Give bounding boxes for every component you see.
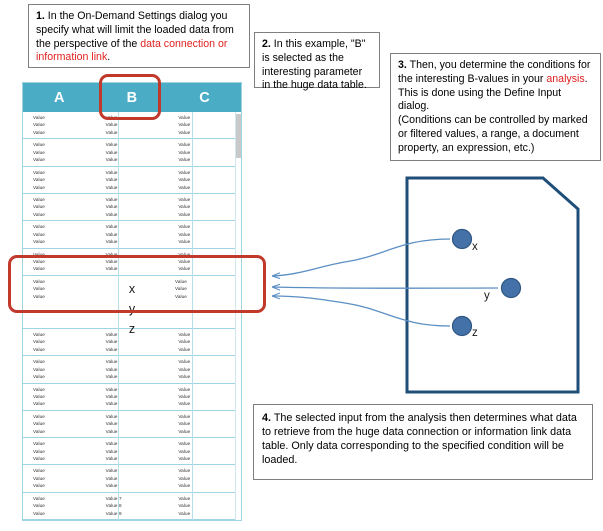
table-row[interactable]: ValueValueValueValueValueValueValueValue… [23,384,241,411]
table-cell-value: Value [178,510,241,517]
table-row[interactable]: ValueValueValueValueValueValueValueValue… [23,221,241,248]
table-cell-value: Value [178,475,241,482]
table-cell-value: Value [33,386,96,393]
table-cell-value: Value [33,358,96,365]
table-cell-value: Value [33,184,96,191]
table-cell-value: Value [33,231,96,238]
table-cell-value: Value [33,420,96,427]
table-cell-b: ValueValueValue [96,386,169,408]
table-cell-b: ValueValueValue [96,467,169,489]
analysis-point-y-dot[interactable] [502,279,521,298]
table-cell-value: Value [178,121,241,128]
callout-step-1-part-b: . [107,51,110,63]
table-cell-value: Value [106,475,169,482]
table-cell-value: Value [33,238,96,245]
table-cell-value: Value [33,223,96,230]
table-cell-b: ValueValueValue [96,196,169,218]
column-header-a[interactable]: A [23,90,96,106]
table-cell-c: ValueValueValue [168,169,241,191]
table-cell-value: Value [178,231,241,238]
table-cell-value: Value [106,428,169,435]
table-cell-value: Value [178,400,241,407]
table-row[interactable]: ValueValueValueValueValueValueValueValue… [23,438,241,465]
table-cell-value: Value [106,176,169,183]
table-cell-value: Value 8 [106,502,169,509]
table-cell-value: Value [178,467,241,474]
table-cell-value: Value [106,203,169,210]
table-cell-value: Value [33,149,96,156]
callout-step-4-text: 4. The selected input from the analysis … [262,411,584,467]
table-cell-a: ValueValueValue [23,196,96,218]
callout-step-1: 1. In the On-Demand Settings dialog you … [28,4,250,68]
callout-step-3-number: 3. [398,59,407,71]
table-cell-a: ValueValueValue [23,141,96,163]
callout-step-2: 2. In this example, "B" is selected as t… [254,32,380,88]
table-cell-value: Value [33,393,96,400]
table-cell-value: Value [106,393,169,400]
table-cell-value: Value [106,156,169,163]
callout-step-1-text: 1. In the On-Demand Settings dialog you … [36,10,242,65]
table-cell-value: Value [178,482,241,489]
table-cell-value: Value [178,502,241,509]
table-cell-value: Value [178,420,241,427]
table-cell-c: ValueValueValue [168,196,241,218]
table-cell-value: Value [106,482,169,489]
callout-step-2-body: In this example, "B" is selected as the … [262,38,368,91]
table-cell-value: Value [178,203,241,210]
table-cell-value: Value 7 [106,495,169,502]
table-cell-value: Value [178,196,241,203]
diagram-canvas: 1. In the On-Demand Settings dialog you … [0,0,603,531]
table-cell-value: Value [178,366,241,373]
callout-step-4-number: 4. [262,412,271,424]
table-cell-c: ValueValueValue [168,141,241,163]
table-cell-value: Value [33,114,96,121]
table-cell-value: Value [178,129,241,136]
annotation-highlight-row-xyz [8,255,266,313]
table-cell-value: Value [106,121,169,128]
table-cell-value: Value [106,386,169,393]
analysis-point-x-dot[interactable] [453,230,472,249]
table-cell-value: Value [178,149,241,156]
table-cell-value: Value [178,156,241,163]
annotation-highlight-column-b [99,74,161,120]
table-cell-c: ValueValueValue [168,413,241,435]
table-cell-value: Value [33,448,96,455]
table-cell-value: Value [106,196,169,203]
table-cell-value: Value [106,238,169,245]
table-cell-value: Value [178,238,241,245]
table-cell-value: Value [33,502,96,509]
table-scrollbar[interactable] [235,112,241,520]
table-cell-value: Value [178,386,241,393]
analysis-point-z-label: z [472,327,478,339]
analysis-document-shape [405,176,580,394]
table-cell-b: ValueValueValue [96,223,169,245]
table-cell-value: Value [106,440,169,447]
table-row[interactable]: ValueValueValueValueValueValueValueValue… [23,356,241,383]
analysis-point-z-dot[interactable] [453,317,472,336]
table-cell-value: Value [33,156,96,163]
table-row[interactable]: ValueValueValueValueValueValueValueValue… [23,329,241,356]
table-cell-value: Value [106,149,169,156]
table-cell-value: Value [33,495,96,502]
table-cell-b: ValueValueValue [96,331,169,353]
table-cell-value: Value [33,196,96,203]
callout-step-3-text: 3. Then, you determine the conditions fo… [398,59,593,155]
table-cell-b: ValueValueValue [96,141,169,163]
table-cell-value: Value [33,475,96,482]
table-cell-value: Value [106,211,169,218]
table-cell-value: Value [33,338,96,345]
table-row[interactable]: ValueValueValueValueValueValueValueValue… [23,139,241,166]
table-cell-value: Value [106,455,169,462]
table-body: ValueValueValueValueValueValueValueValue… [23,112,241,520]
table-cell-b: ValueValueValue [96,169,169,191]
table-cell-b: Value 7Value 8Value 9 [96,495,169,517]
callout-step-1-number: 1. [36,10,45,22]
table-cell-value: Value [106,338,169,345]
table-cell-value: Value [178,169,241,176]
table-cell-value: Value [178,338,241,345]
table-cell-value: Value [178,393,241,400]
table-cell-value: Value [33,176,96,183]
table-cell-value: Value [106,448,169,455]
table-cell-value: Value [106,467,169,474]
table-cell-a: ValueValueValue [23,386,96,408]
table-cell-value: Value [106,331,169,338]
table-cell-value: Value [106,420,169,427]
table-cell-value: Value [106,231,169,238]
table-cell-c: ValueValueValue [168,114,241,136]
table-cell-value: Value [178,346,241,353]
table-cell-value: Value [33,373,96,380]
table-cell-c: ValueValueValue [168,223,241,245]
table-cell-b: ValueValueValue [96,358,169,380]
table-cell-value: Value [178,428,241,435]
column-divider-bc [192,112,193,520]
table-cell-value: Value [178,455,241,462]
table-cell-value: Value [106,184,169,191]
table-cell-value: Value [106,358,169,365]
table-cell-value: Value [178,176,241,183]
column-divider-ab [118,112,119,520]
table-cell-value: Value [178,141,241,148]
table-cell-value: Value [178,211,241,218]
table-cell-a: ValueValueValue [23,440,96,462]
table-cell-a: ValueValueValue [23,114,96,136]
callout-step-4: 4. The selected input from the analysis … [253,404,593,480]
table-cell-value: Value [106,169,169,176]
table-cell-c: ValueValueValue [168,467,241,489]
table-cell-value: Value [33,141,96,148]
table-cell-value: Value [106,141,169,148]
table-cell-value: Value 9 [106,510,169,517]
table-cell-value: Value [33,121,96,128]
table-cell-value: Value [33,510,96,517]
table-scrollbar-thumb[interactable] [236,114,241,158]
table-cell-value: Value [178,223,241,230]
analysis-point-x-label: x [472,241,478,253]
table-cell-value: Value [106,223,169,230]
table-cell-value: Value [33,169,96,176]
table-cell-value: Value [106,400,169,407]
table-cell-value: Value [178,184,241,191]
table-cell-value: Value [106,373,169,380]
table-cell-value: Value [178,413,241,420]
table-cell-value: Value [33,413,96,420]
table-cell-value: Value [178,448,241,455]
callout-step-2-number: 2. [262,38,271,50]
table-row[interactable]: ValueValueValueValueValueValueValueValue… [23,465,241,492]
table-cell-a: ValueValueValue [23,169,96,191]
table-cell-c: ValueValueValue [168,358,241,380]
table-row[interactable]: ValueValueValueValueValueValueValueValue… [23,411,241,438]
table-cell-value: Value [33,129,96,136]
table-cell-value: Value [178,331,241,338]
callout-step-3-highlight: analysis [546,73,584,85]
table-cell-value: Value [178,373,241,380]
column-header-c[interactable]: C [168,90,241,106]
table-cell-value: Value [33,482,96,489]
table-cell-value: Value [106,129,169,136]
table-cell-a: ValueValueValue [23,223,96,245]
table-cell-value: Value [33,366,96,373]
table-cell-value: Value [33,455,96,462]
table-cell-a: ValueValueValue [23,495,96,517]
table-cell-value: Value [33,211,96,218]
table-cell-value: Value [106,413,169,420]
analysis-point-y-label: y [484,290,490,302]
table-cell-value: Value [178,114,241,121]
table-cell-c: ValueValueValue [168,331,241,353]
callout-step-2-text: 2. In this example, "B" is selected as t… [262,38,372,93]
table-cell-value: Value [178,440,241,447]
table-cell-b: ValueValueValue [96,440,169,462]
table-cell-a: ValueValueValue [23,413,96,435]
table-cell-value: Value [33,440,96,447]
table-cell-value: Value [106,346,169,353]
table-cell-a: ValueValueValue [23,467,96,489]
callout-step-4-body: The selected input from the analysis the… [262,412,580,466]
table-cell-value: Value [33,346,96,353]
table-row[interactable]: ValueValueValueValueValueValueValueValue… [23,194,241,221]
table-cell-value: Value [33,331,96,338]
table-cell-a: ValueValueValue [23,358,96,380]
table-cell-value: Value [33,428,96,435]
table-cell-value: Value [106,366,169,373]
table-cell-value: Value [33,203,96,210]
table-row[interactable]: ValueValueValueValueValueValueValueValue… [23,167,241,194]
table-cell-value: Value [178,495,241,502]
table-cell-a: ValueValueValue [23,331,96,353]
table-cell-c: ValueValueValue [168,440,241,462]
table-cell-c: ValueValueValue [168,495,241,517]
callout-step-3: 3. Then, you determine the conditions fo… [390,53,601,161]
table-cell-c: ValueValueValue [168,386,241,408]
table-cell-value: Value [33,400,96,407]
table-cell-b: ValueValueValue [96,413,169,435]
table-row[interactable]: ValueValueValueValue 7Value 8Value 9Valu… [23,493,241,520]
table-cell-value: Value [33,467,96,474]
table-cell-value: Value [178,358,241,365]
